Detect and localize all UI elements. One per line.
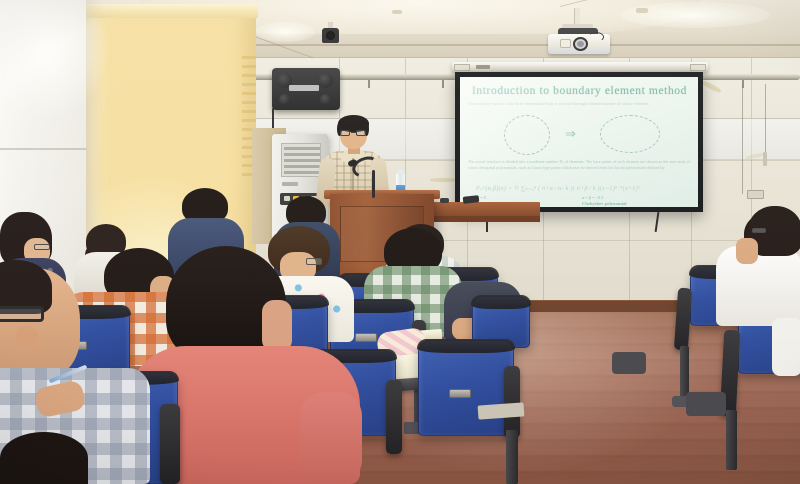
diagram-arrow-icon: ⇒ <box>565 127 576 140</box>
ear <box>16 326 38 346</box>
slide-surface: Introduction to boundary element method … <box>460 77 698 207</box>
seat-foot <box>686 392 726 416</box>
projection-screen: Introduction to boundary element method … <box>455 72 703 212</box>
arm <box>772 318 800 376</box>
projector-icon <box>548 8 610 56</box>
presenter-glasses-icon <box>340 130 367 136</box>
lecture-hall-photo: Introduction to boundary element method … <box>0 0 800 484</box>
head-hair <box>0 432 88 484</box>
desk-object[interactable] <box>440 198 449 203</box>
glasses-icon <box>306 258 322 265</box>
curtain-hook <box>442 80 444 88</box>
ceiling-light <box>255 22 315 42</box>
screen-slot <box>476 65 490 69</box>
glasses-icon <box>34 244 50 250</box>
microphone-stand <box>372 170 375 198</box>
window-glare <box>0 0 110 120</box>
ceiling-vent <box>392 10 402 14</box>
seat-leg <box>726 410 737 470</box>
projector-knob <box>560 39 571 48</box>
projector-lens-inner <box>577 41 584 47</box>
speaker-driver <box>279 94 290 105</box>
torso <box>716 246 800 326</box>
hanging-cord <box>765 84 766 156</box>
arm <box>300 392 362 484</box>
ac-indicator <box>284 196 290 201</box>
ceiling-vent <box>636 8 648 13</box>
raised-hand <box>736 238 758 264</box>
slide-subtitle: The boundary surface of the three-dimens… <box>468 101 690 107</box>
hanging-cord <box>742 84 743 194</box>
glasses-icon <box>0 306 44 322</box>
curtain-header <box>84 4 258 18</box>
slide-footnote-right: α = β = −0.5 Chebyshev polynomial <box>582 195 627 206</box>
screen-endcap <box>454 64 470 71</box>
curtain-hook <box>368 80 370 88</box>
footnote-label-right: Chebyshev polynomial <box>582 201 627 206</box>
speaker-driver <box>320 94 331 105</box>
projector-cable <box>588 32 604 42</box>
seat-leg <box>506 430 518 484</box>
slide-body-text: The actual interface is divided into a m… <box>468 159 690 172</box>
slide-equation: Pₙ^(α,β)(x) = ½ ∑ₖ₌₀ⁿ ( n+α ⁄ n−k )( n+β… <box>476 185 682 192</box>
seat-number-plate <box>449 389 471 398</box>
seat-edge <box>417 339 515 353</box>
wall-speaker-icon <box>272 68 340 110</box>
ceiling-light <box>620 2 770 28</box>
wall-stain <box>430 178 456 182</box>
glasses-icon <box>752 228 766 233</box>
ceiling-camera-icon <box>322 28 339 47</box>
ac-grille <box>281 143 321 177</box>
seat[interactable] <box>418 340 514 436</box>
seat-foot <box>612 352 646 374</box>
seat-number-plate <box>355 333 377 342</box>
light-switch[interactable] <box>747 190 764 199</box>
slide-title: Introduction to boundary element method <box>467 85 692 97</box>
seat-armrest <box>160 404 180 484</box>
ear-and-neck <box>262 300 292 352</box>
bottle-cap <box>397 169 404 174</box>
speaker-badge <box>289 85 319 91</box>
speaker-driver <box>318 73 333 88</box>
ac-logo <box>282 182 298 186</box>
pillar-seam <box>0 148 86 150</box>
diagram-circle <box>504 115 550 155</box>
screen-endcap <box>690 64 706 71</box>
seat-armrest <box>386 380 402 454</box>
diagram-ellipse <box>600 115 660 153</box>
camera-lens <box>326 31 335 40</box>
seat-edge <box>471 295 531 309</box>
side-desk-front <box>420 216 540 222</box>
cord-weight <box>763 152 767 166</box>
footnote-condition-right: α = β = −0.5 <box>582 195 603 200</box>
